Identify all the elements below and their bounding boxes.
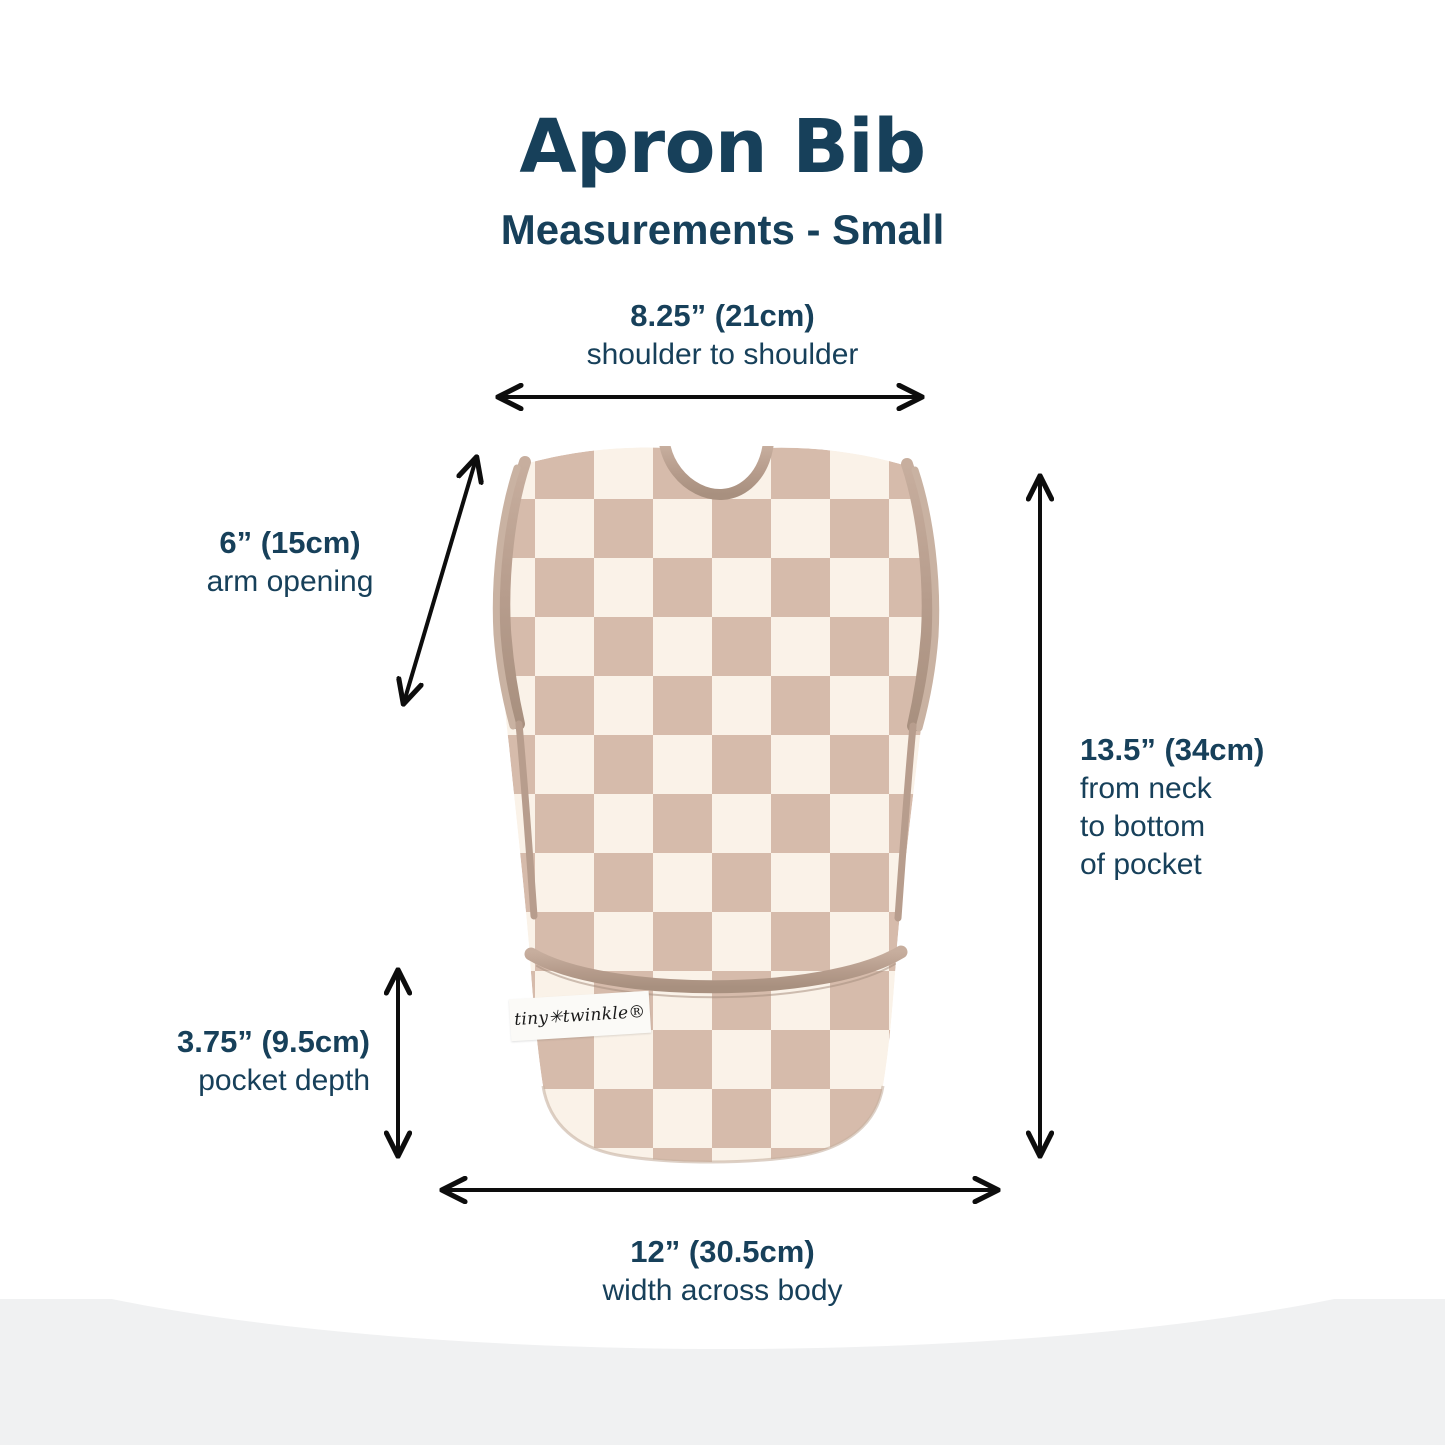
label-neck-to-pocket: 13.5” (34cm) from neck to bottom of pock… bbox=[1080, 730, 1410, 885]
brand-label-tag: tiny✳twinkle® bbox=[509, 991, 651, 1041]
label-width-across-body: 12” (30.5cm) width across body bbox=[0, 1232, 1445, 1310]
dimension-arrows-layer bbox=[0, 0, 1445, 1445]
shoulder-value: 8.25” (21cm) bbox=[0, 296, 1445, 336]
arm-value: 6” (15cm) bbox=[90, 523, 490, 563]
pocket-desc: pocket depth bbox=[40, 1062, 370, 1100]
measurement-diagram: Apron Bib Measurements - Small bbox=[0, 0, 1445, 1445]
height-desc-line-2: to bottom bbox=[1080, 808, 1410, 846]
height-desc-line-1: from neck bbox=[1080, 770, 1410, 808]
pocket-value: 3.75” (9.5cm) bbox=[40, 1022, 370, 1062]
width-value: 12” (30.5cm) bbox=[0, 1232, 1445, 1272]
arm-desc: arm opening bbox=[90, 563, 490, 601]
shoulder-desc: shoulder to shoulder bbox=[0, 336, 1445, 374]
label-shoulder-to-shoulder: 8.25” (21cm) shoulder to shoulder bbox=[0, 296, 1445, 374]
height-value: 13.5” (34cm) bbox=[1080, 730, 1410, 770]
label-arm-opening: 6” (15cm) arm opening bbox=[90, 523, 490, 601]
height-desc-line-3: of pocket bbox=[1080, 846, 1410, 884]
label-pocket-depth: 3.75” (9.5cm) pocket depth bbox=[40, 1022, 370, 1100]
width-desc: width across body bbox=[0, 1272, 1445, 1310]
brand-label-text: tiny✳twinkle® bbox=[514, 1002, 647, 1030]
